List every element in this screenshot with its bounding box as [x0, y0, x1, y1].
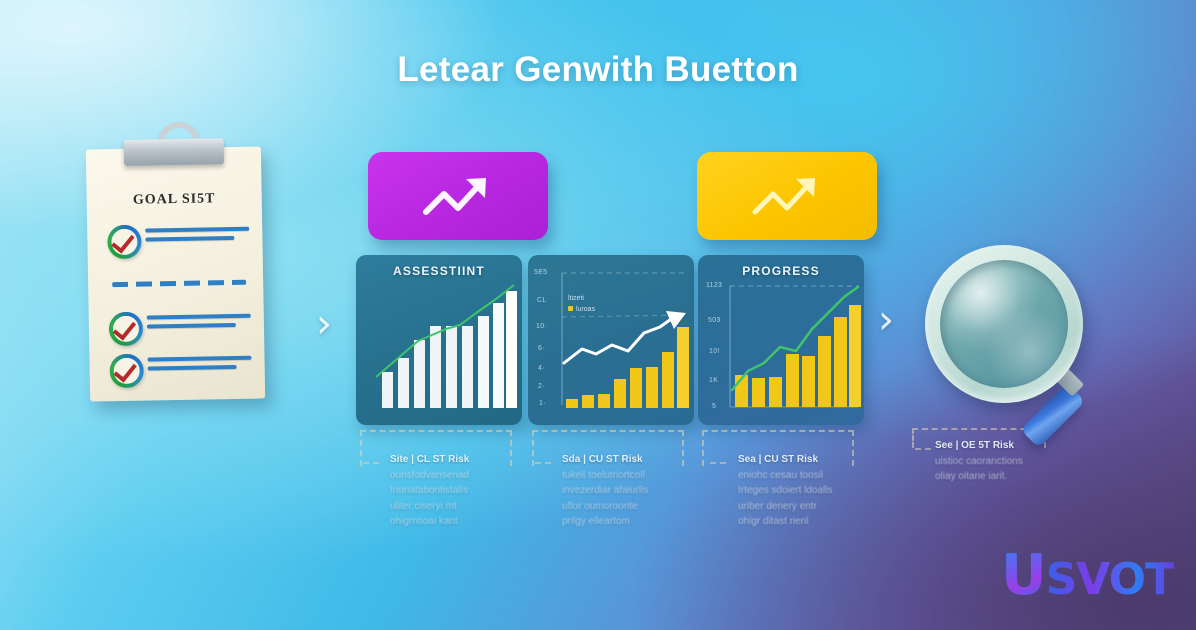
- clipboard-clip-icon: [124, 138, 224, 166]
- text-line: [145, 236, 234, 242]
- page-title: Letear Genwith Buetton: [0, 50, 1196, 90]
- caption-line: tukeli toelutriortcoll: [562, 468, 712, 484]
- chevron-right-icon-2: ›: [878, 300, 894, 340]
- checklist-item[interactable]: [109, 310, 250, 342]
- caption-line: prilgy elleartom: [562, 514, 712, 530]
- checklist-item[interactable]: [109, 352, 250, 384]
- text-line: [148, 365, 237, 371]
- caption-4: See | OE 5T Risk uistioc caoranctions ol…: [935, 438, 1085, 485]
- check-circle-icon: [109, 354, 144, 389]
- caption-line: uflor oumoroonte: [562, 499, 712, 515]
- text-line: [147, 356, 251, 362]
- purple-trend-button[interactable]: [368, 152, 548, 240]
- chevron-right-icon-1: ›: [316, 304, 332, 344]
- trending-up-icon: [418, 170, 498, 222]
- card-progress[interactable]: PROGRESS 1123 503 10! 1K 5: [698, 255, 864, 425]
- caption-line: oliay oitane iarit.: [935, 469, 1085, 485]
- check-circle-icon: [107, 225, 142, 260]
- bars: [735, 305, 861, 407]
- caption-2: Sda | CU ST Risk tukeli toelutriortcoll …: [562, 452, 712, 530]
- trending-up-icon: [747, 170, 827, 222]
- check-circle-icon: [109, 312, 144, 347]
- progress-bar-chart: [698, 255, 864, 425]
- forecast-bar-chart: [528, 255, 694, 425]
- card-forecast[interactable]: 5E5 CL 10· 6· 4· 2· 1· ltizeti luroas: [528, 255, 694, 425]
- caption-1: Site | CL ST Risk ounsfodvariseriad Inun…: [390, 452, 540, 530]
- checklist-item[interactable]: [107, 223, 248, 255]
- checklist-lines: [145, 227, 249, 247]
- bars: [382, 291, 517, 408]
- caption-head: Sda | CU ST Risk: [562, 452, 712, 468]
- caption-head: Site | CL ST Risk: [390, 452, 540, 468]
- caption-3: Sea | CU ST Risk eniohc cesau toosil Irt…: [738, 452, 888, 530]
- clipboard-paper: GOAL SI5T: [86, 146, 265, 401]
- checklist-lines: [147, 356, 251, 376]
- caption-line: Irteges sdoiert ldoalls: [738, 483, 888, 499]
- card-assessment[interactable]: ASSESSTIINT: [356, 255, 522, 425]
- caption-head: See | OE 5T Risk: [935, 438, 1085, 454]
- goal-list-clipboard: GOAL SI5T: [88, 148, 263, 400]
- caption-dash: [363, 462, 379, 464]
- caption-line: uriber denery entr: [738, 499, 888, 515]
- caption-dash: [915, 448, 931, 450]
- caption-line: uliter ciseryi mt: [390, 499, 540, 515]
- caption-line: invezerdiar afaiurlis: [562, 483, 712, 499]
- text-line: [145, 227, 249, 233]
- text-line: [147, 314, 251, 320]
- assessment-bar-chart: [356, 255, 522, 425]
- infographic-canvas: Letear Genwith Buetton GOAL SI5T: [0, 0, 1196, 630]
- trend-line: [564, 317, 674, 363]
- yellow-trend-button[interactable]: [697, 152, 877, 240]
- usvot-logo: USVOT: [1001, 543, 1174, 608]
- caption-dash: [535, 462, 551, 464]
- caption-line: ounsfodvariseriad: [390, 468, 540, 484]
- magnifying-glass-icon: [925, 245, 1110, 430]
- caption-line: ohigr ditast rieril: [738, 514, 888, 530]
- caption-line: ohigrntioai kant: [390, 514, 540, 530]
- caption-line: uistioc caoranctions: [935, 454, 1085, 470]
- logo-initial: U: [1001, 543, 1045, 608]
- clipboard-heading: GOAL SI5T: [87, 190, 262, 209]
- caption-line: Inunatabontistalls: [390, 483, 540, 499]
- card-label: PROGRESS: [698, 264, 864, 278]
- dashed-separator: [112, 280, 246, 287]
- magnifier-lens: [940, 260, 1068, 388]
- caption-head: Sea | CU ST Risk: [738, 452, 888, 468]
- text-line: [147, 323, 236, 329]
- bars: [566, 327, 689, 408]
- caption-dash: [710, 462, 726, 464]
- caption-line: eniohc cesau toosil: [738, 468, 888, 484]
- card-label: ASSESSTIINT: [356, 264, 522, 278]
- magnifier-rim: [925, 245, 1083, 403]
- logo-wordmark: SVOT: [1046, 554, 1174, 605]
- checklist-lines: [147, 314, 251, 334]
